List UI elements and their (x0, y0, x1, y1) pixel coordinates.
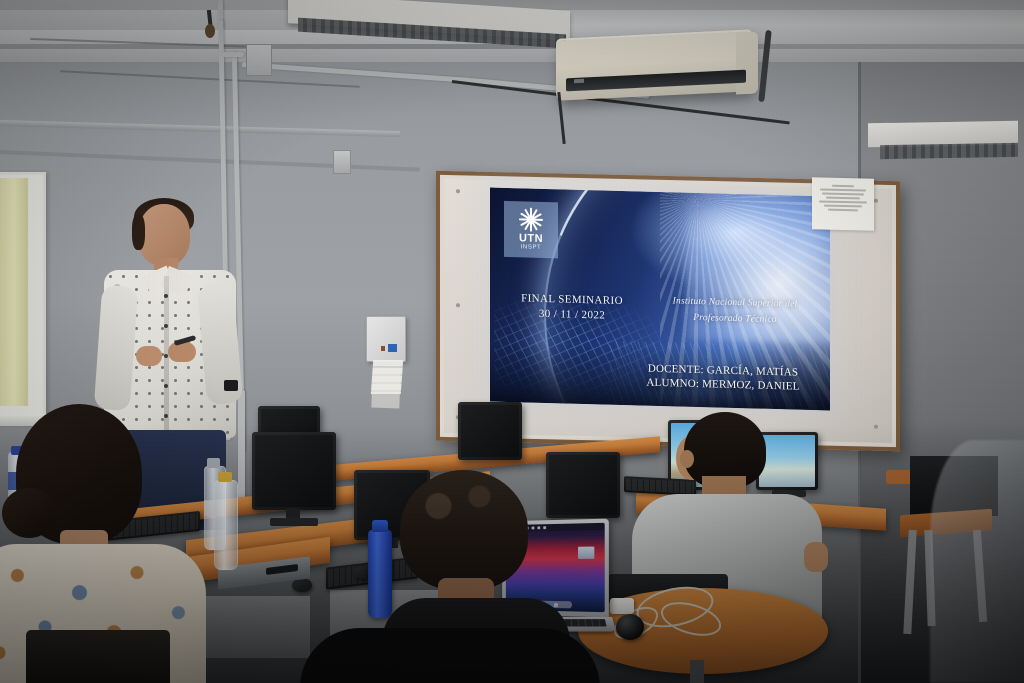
corner-chair-leg (903, 530, 916, 634)
utn-logo-subname: INSPT (521, 244, 542, 252)
notice-line (822, 193, 864, 196)
dispenser-label-icon (388, 344, 397, 352)
notice-line (824, 205, 863, 208)
utn-logo-name: UTN (519, 233, 543, 245)
attendee-gray-person (646, 412, 816, 612)
utn-logo-block: UTN INSPT (504, 201, 558, 258)
classroom-photo-scene: UTN INSPT FINAL SEMINARIO 30 / 11 / 2022… (0, 0, 1024, 683)
plastic-cover-sheet (930, 440, 1024, 683)
presenter-head (138, 204, 190, 266)
ceiling-light-tube-right (880, 143, 1018, 159)
attendee-gray-ear (680, 450, 694, 468)
junction-box (246, 44, 272, 76)
presenter-hair-side (132, 214, 145, 250)
presenter-wristwatch (224, 380, 238, 391)
slide-credits-block: DOCENTE: GARCÍA, MATÍAS ALUMNO: MERMOZ, … (620, 361, 826, 395)
monitor-screen (255, 435, 333, 507)
air-conditioner-side-cap (736, 31, 758, 94)
attendee-woman-person (0, 404, 234, 683)
board-notice-paper (812, 177, 874, 230)
paper-towel-dispenser[interactable] (366, 316, 406, 362)
air-conditioner-display (574, 79, 584, 83)
round-black-device (616, 614, 644, 640)
classroom-chair (26, 630, 170, 683)
board-screw (456, 189, 460, 193)
presenter-hand-left (136, 346, 162, 366)
wall-posted-note (371, 368, 400, 409)
notice-line (820, 188, 866, 191)
monitor-base (270, 518, 318, 526)
desktop-window[interactable] (578, 546, 594, 558)
foreground-shoulder-silhouette (300, 628, 600, 683)
notice-line (832, 185, 854, 187)
slide-institution-block: Instituto Nacional Superior del Profesor… (640, 293, 830, 329)
conduit-bend (222, 52, 244, 57)
presenter-hand-right (168, 342, 196, 362)
utn-sunburst-icon (519, 207, 543, 232)
board-screw (874, 425, 878, 429)
wall-sensor-box (333, 150, 351, 174)
notice-line (826, 197, 861, 200)
shirt-button (164, 294, 168, 298)
board-screw (874, 199, 878, 203)
laptop-charger-brick (610, 598, 634, 614)
dispenser-latch-icon (381, 346, 385, 351)
attendee-woman-hair-bun (2, 488, 56, 538)
table-leg (690, 660, 704, 683)
monitor-screen (461, 405, 519, 457)
shirt-button (164, 324, 168, 328)
notice-line (828, 209, 858, 212)
notice-line (819, 200, 867, 203)
board-screw (456, 303, 460, 307)
shirt-button (164, 384, 168, 388)
projected-slide: UTN INSPT FINAL SEMINARIO 30 / 11 / 2022… (490, 188, 830, 411)
slide-title-block: FINAL SEMINARIO 30 / 11 / 2022 (502, 292, 642, 324)
computer-monitor (252, 432, 336, 510)
wire-knot (205, 24, 215, 38)
attendee-curly-hair (400, 470, 528, 590)
computer-monitor (458, 402, 522, 460)
attendee-gray-arm (804, 542, 828, 572)
window-blind (0, 178, 28, 406)
